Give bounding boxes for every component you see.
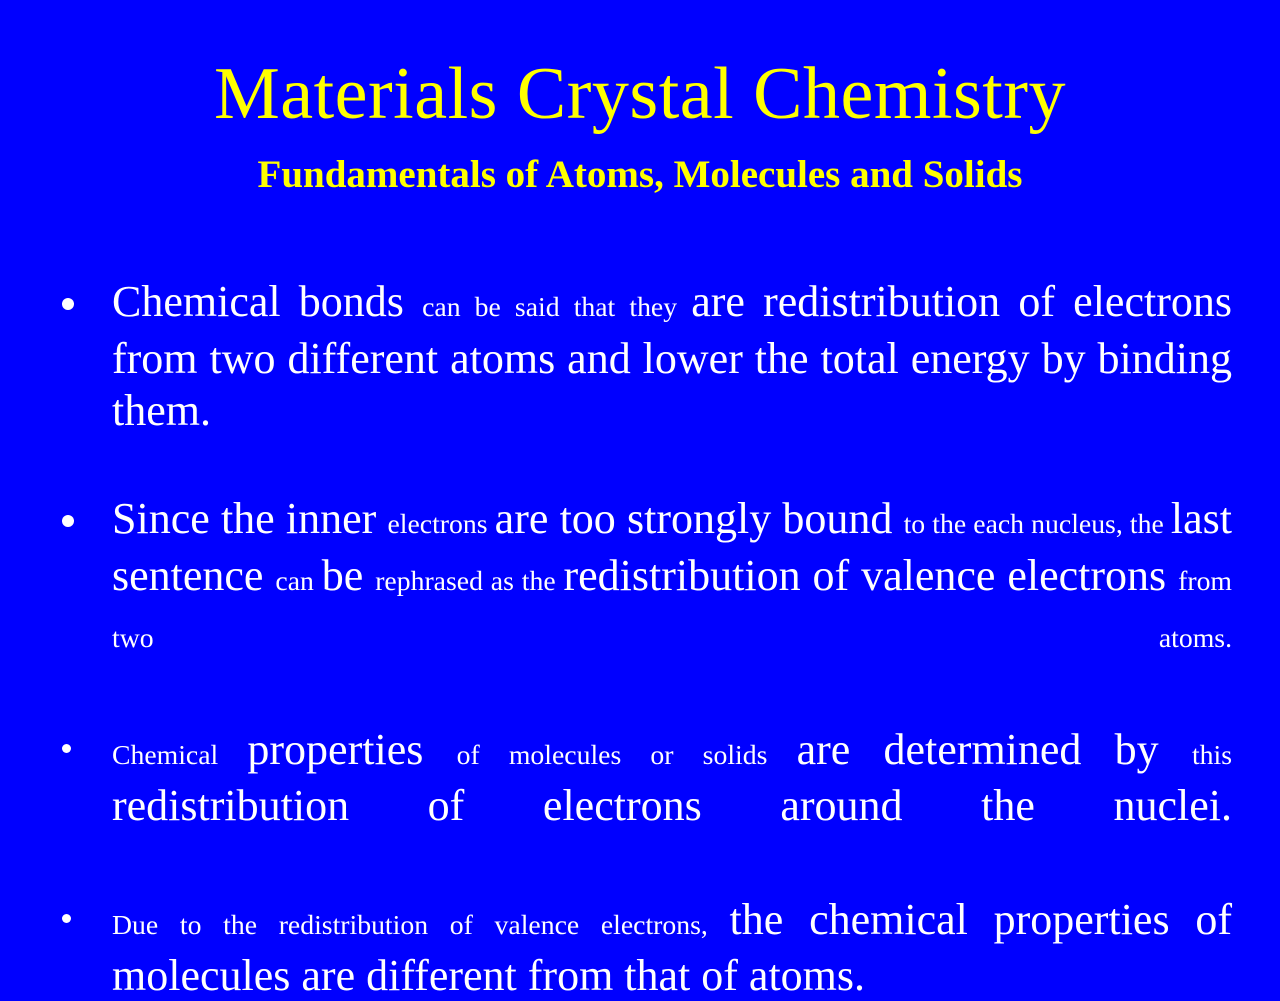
bullet-dot-icon bbox=[62, 298, 74, 310]
list-item: Due to the redistribution of valence ele… bbox=[0, 894, 1280, 1001]
bullet-list: Chemical bonds can be said that they are… bbox=[0, 276, 1280, 1001]
text-run: properties bbox=[247, 725, 456, 774]
text-run: Chemical bonds bbox=[112, 277, 422, 326]
text-run: rephrased as the bbox=[375, 565, 563, 596]
text-run: this bbox=[1192, 739, 1232, 770]
title-block: Materials Crystal Chemistry Fundamentals… bbox=[0, 52, 1280, 198]
list-item: Since the inner electrons are too strong… bbox=[0, 493, 1280, 716]
page-title: Materials Crystal Chemistry bbox=[0, 52, 1280, 136]
page-subtitle: Fundamentals of Atoms, Molecules and Sol… bbox=[0, 152, 1280, 198]
bullet-dot-icon bbox=[62, 515, 74, 527]
text-run: redistribution of valence electrons bbox=[563, 551, 1178, 600]
list-item: Chemical properties of molecules or soli… bbox=[0, 724, 1280, 882]
text-run: redistribution of electrons around the n… bbox=[112, 781, 1232, 830]
text-run: to the each nucleus, the bbox=[904, 508, 1171, 539]
text-run: are too strongly bound bbox=[495, 494, 904, 543]
text-run: Due to the redistribution of valence ele… bbox=[112, 909, 730, 940]
text-run: can be said that they bbox=[422, 291, 691, 322]
slide-canvas: Materials Crystal Chemistry Fundamentals… bbox=[0, 0, 1280, 960]
text-run: electrons bbox=[388, 508, 495, 539]
text-run: are determined by bbox=[797, 725, 1192, 774]
bullet-dot-icon bbox=[62, 744, 71, 753]
bullet-dot-icon bbox=[62, 914, 71, 923]
list-item: Chemical bonds can be said that they are… bbox=[0, 276, 1280, 489]
text-run: Since the inner bbox=[112, 494, 388, 543]
text-run: of molecules or solids bbox=[457, 739, 797, 770]
text-run: can bbox=[275, 565, 321, 596]
text-run: be bbox=[322, 551, 375, 600]
text-run: Chemical bbox=[112, 739, 247, 770]
